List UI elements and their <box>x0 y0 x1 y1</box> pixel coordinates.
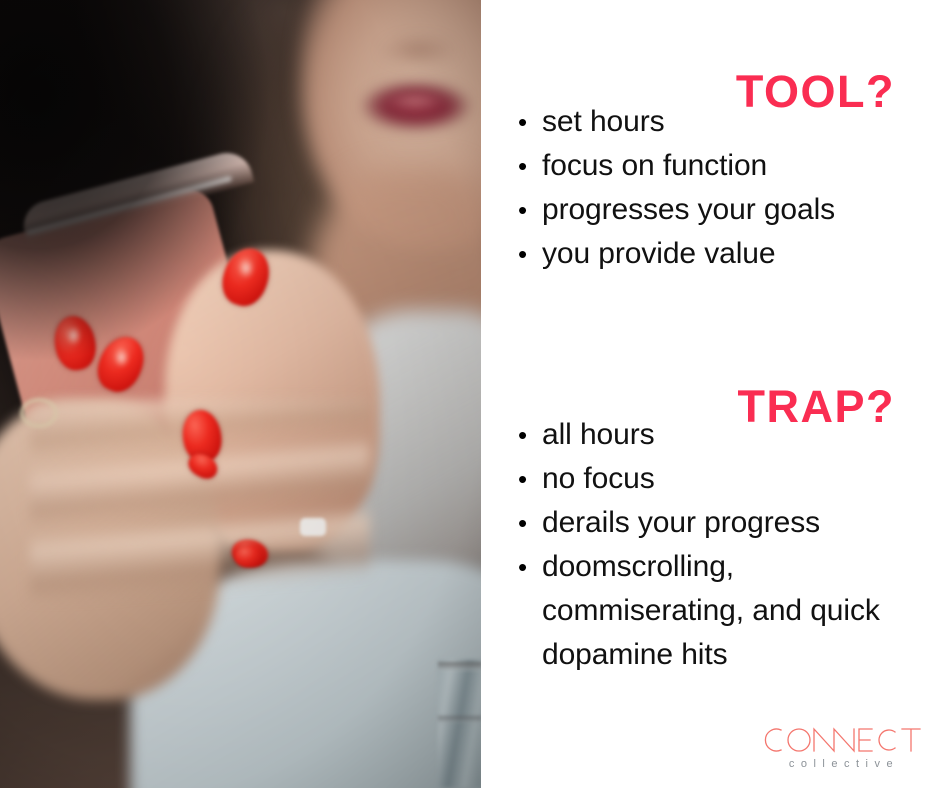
bullet-list-trap: • all hours • no focus • derails your pr… <box>518 413 922 677</box>
bullet-dot-icon: • <box>518 457 542 501</box>
list-item: • set hours <box>518 100 922 144</box>
list-item-label: set hours <box>542 100 922 144</box>
bullet-dot-icon: • <box>518 100 542 144</box>
bullet-dot-icon: • <box>518 188 542 232</box>
list-item-label: focus on function <box>542 144 922 188</box>
photo-vignette <box>0 0 481 788</box>
list-item: • progresses your goals <box>518 188 922 232</box>
bullet-dot-icon: • <box>518 501 542 545</box>
bullet-list-tool: • set hours • focus on function • progre… <box>518 100 922 276</box>
list-item: • doomscrolling, commiserating, and quic… <box>518 545 922 677</box>
list-item: • derails your progress <box>518 501 922 545</box>
bullet-dot-icon: • <box>518 144 542 188</box>
hero-photo <box>0 0 481 788</box>
list-item-label: no focus <box>542 457 922 501</box>
brand-logo: collective <box>755 725 927 770</box>
content-panel: TOOL? • set hours • focus on function • … <box>481 0 940 788</box>
list-item-label: you provide value <box>542 232 922 276</box>
bullet-dot-icon: • <box>518 545 542 589</box>
list-item: • you provide value <box>518 232 922 276</box>
logo-tagline: collective <box>755 758 927 770</box>
list-item-label: derails your progress <box>542 501 922 545</box>
list-item-label: doomscrolling, commiserating, and quick … <box>542 545 922 677</box>
connect-wordmark-icon <box>761 725 921 755</box>
list-item-label: all hours <box>542 413 922 457</box>
list-item-label: progresses your goals <box>542 188 922 232</box>
social-graphic-canvas: TOOL? • set hours • focus on function • … <box>0 0 940 788</box>
bullet-dot-icon: • <box>518 413 542 457</box>
list-item: • focus on function <box>518 144 922 188</box>
list-item: • no focus <box>518 457 922 501</box>
list-item: • all hours <box>518 413 922 457</box>
bullet-dot-icon: • <box>518 232 542 276</box>
